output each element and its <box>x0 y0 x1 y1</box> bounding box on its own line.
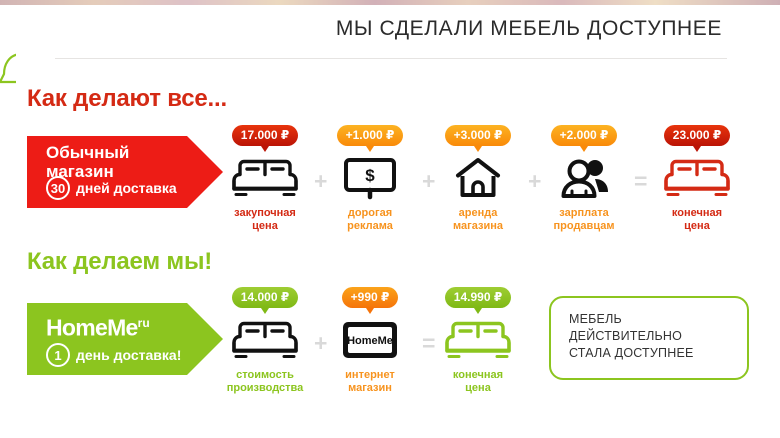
item-salespeople-salary: +2.000 ₽ зарплата продавцам <box>536 125 632 233</box>
homeme-logo-suffix: ru <box>138 316 150 330</box>
people-icon <box>536 155 632 201</box>
item-online-store: +990 ₽ HomeMe интернет магазин <box>322 287 418 395</box>
item-caption: стоимость производства <box>217 369 313 395</box>
sofa-icon <box>217 155 313 201</box>
item-store-rent: +3.000 ₽ аренда магазина <box>430 125 526 233</box>
price-badge: 14.990 ₽ <box>445 287 511 308</box>
delivery-days-circle: 1 <box>46 343 70 367</box>
delivery-label: дней доставка <box>76 180 177 196</box>
homeme-screen-icon: HomeMe <box>322 317 418 363</box>
section-title-homeme: Как делаем мы! <box>27 248 212 276</box>
price-badge: +3.000 ₽ <box>445 125 512 146</box>
item-expensive-ads: +1.000 ₽ $ дорогая реклама <box>322 125 418 233</box>
price-badge: 14.000 ₽ <box>232 287 298 308</box>
banner-regular-store: Обычный магазин 30 дней доставка <box>27 136 223 208</box>
sofa-icon <box>217 317 313 363</box>
price-badge: 23.000 ₽ <box>664 125 730 146</box>
item-caption: дорогая реклама <box>322 207 418 233</box>
page-header: МЫ СДЕЛАЛИ МЕБЕЛЬ ДОСТУПНЕЕ <box>0 5 780 59</box>
speech-bubble-tail <box>0 52 24 84</box>
item-final-price-homeme: 14.990 ₽ конечная цена <box>430 287 526 395</box>
homeme-logo: HomeMeru <box>46 311 150 340</box>
homeme-logo-text: HomeMe <box>46 315 138 341</box>
item-caption: аренда магазина <box>430 207 526 233</box>
infographic-page: МЫ СДЕЛАЛИ МЕБЕЛЬ ДОСТУПНЕЕ Как делают в… <box>0 0 780 438</box>
delivery-info-homeme: 1 день доставка! <box>46 343 181 367</box>
banner-homeme: HomeMeru 1 день доставка! <box>27 303 223 375</box>
speech-bubble: МЕБЕЛЬ ДЕЙСТВИТЕЛЬНО СТАЛА ДОСТУПНЕЕ <box>549 296 749 380</box>
svg-text:$: $ <box>365 166 375 185</box>
sofa-red-icon <box>649 155 745 201</box>
delivery-info-regular-store: 30 дней доставка <box>46 176 177 200</box>
delivery-label: день доставка! <box>76 347 181 363</box>
svg-text:HomeMe: HomeMe <box>347 335 393 347</box>
item-caption: интернет магазин <box>322 369 418 395</box>
sofa-green-icon <box>430 317 526 363</box>
page-title: МЫ СДЕЛАЛИ МЕБЕЛЬ ДОСТУПНЕЕ <box>336 17 722 41</box>
item-caption: конечная цена <box>430 369 526 395</box>
item-caption: закупочная цена <box>217 207 313 233</box>
item-caption: конечная цена <box>649 207 745 233</box>
item-production-cost: 14.000 ₽ стоимость производства <box>217 287 313 395</box>
speech-bubble-text: МЕБЕЛЬ ДЕЙСТВИТЕЛЬНО СТАЛА ДОСТУПНЕЕ <box>569 311 694 362</box>
price-badge: +2.000 ₽ <box>551 125 618 146</box>
section-title-competitors: Как делают все... <box>27 85 227 113</box>
item-final-price-competitors: 23.000 ₽ конечная цена <box>649 125 745 233</box>
house-icon <box>430 155 526 201</box>
price-badge: +990 ₽ <box>342 287 399 308</box>
item-purchase-price: 17.000 ₽ закупочная цена <box>217 125 313 233</box>
operator-equals-1: = <box>634 170 647 193</box>
header-divider <box>55 58 727 59</box>
delivery-days-circle: 30 <box>46 176 70 200</box>
price-badge: +1.000 ₽ <box>337 125 404 146</box>
item-caption: зарплата продавцам <box>536 207 632 233</box>
price-badge: 17.000 ₽ <box>232 125 298 146</box>
billboard-dollar-icon: $ <box>322 155 418 201</box>
